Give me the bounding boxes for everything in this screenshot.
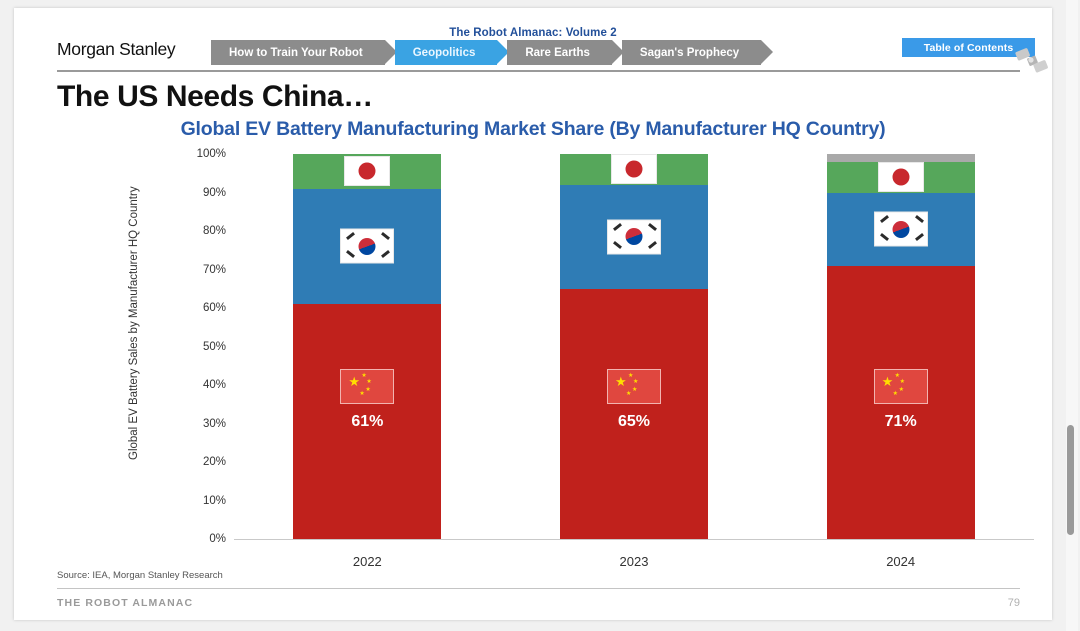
x-axis-line	[234, 539, 1034, 540]
china-star-small: ★	[900, 380, 905, 385]
y-axis-tick: 0%	[209, 533, 226, 545]
bar-segment-china[interactable]: ★★★★★61%	[293, 304, 441, 539]
chapter-nav: How to Train Your Robot Geopolitics Rare…	[211, 40, 771, 65]
y-axis-tick: 70%	[203, 264, 226, 276]
china-flag-icon: ★★★★★	[874, 369, 928, 404]
japan-flag-icon	[878, 162, 924, 192]
korea-trigram	[381, 250, 390, 258]
y-axis-tick: 10%	[203, 495, 226, 507]
japan-flag-icon	[611, 154, 657, 184]
china-star-small: ★	[893, 392, 898, 397]
china-star-large: ★	[348, 377, 360, 387]
volume-title: The Robot Almanac: Volume 2	[14, 27, 1052, 39]
bar-segment-south-korea[interactable]	[560, 185, 708, 289]
bar-value-label: 71%	[885, 413, 917, 431]
bar-segment-china[interactable]: ★★★★★65%	[560, 289, 708, 539]
nav-chevron-label: Geopolitics	[413, 47, 476, 59]
bar-group[interactable]: ★★★★★61%	[293, 154, 441, 539]
china-star-small: ★	[633, 380, 638, 385]
bar-series-container: ★★★★★61%2022★★★★★65%2023★★★★★71%2024	[234, 154, 1034, 539]
korea-trigram	[880, 233, 889, 241]
korea-trigram	[346, 232, 355, 240]
japan-disc	[359, 163, 376, 180]
chart-plot-area: Global EV Battery Sales by Manufacturer …	[14, 146, 1052, 566]
x-axis-tick: 2023	[620, 554, 649, 569]
nav-chevron-how-to-train-your-robot[interactable]: How to Train Your Robot	[211, 40, 385, 65]
browser-viewport: The Robot Almanac: Volume 2 Morgan Stanl…	[0, 0, 1080, 631]
korea-trigram	[346, 250, 355, 258]
page-title: The US Needs China…	[57, 80, 373, 114]
korea-trigram	[915, 215, 924, 223]
korea-taeguk	[892, 221, 909, 238]
x-axis-tick: 2024	[886, 554, 915, 569]
bar-segment-japan[interactable]	[293, 154, 441, 189]
bar-segment-south-korea[interactable]	[827, 193, 975, 266]
korea-trigram	[648, 223, 657, 231]
nav-chevron-label: Sagan's Prophecy	[640, 47, 739, 59]
nav-chevron-rare-earths[interactable]: Rare Earths	[507, 40, 612, 65]
korea-trigram	[648, 241, 657, 249]
china-star-small: ★	[626, 392, 631, 397]
korea-taeguk	[626, 228, 643, 245]
nav-chevron-label: Rare Earths	[525, 47, 590, 59]
china-star-large: ★	[615, 377, 627, 387]
bar-segment-japan[interactable]	[827, 162, 975, 193]
y-axis-tick: 50%	[203, 341, 226, 353]
bar-segment-japan[interactable]	[560, 154, 708, 185]
bar-segment-china[interactable]: ★★★★★71%	[827, 266, 975, 539]
bar-segment-others[interactable]	[827, 154, 975, 162]
footer-brand: THE ROBOT ALMANAC	[57, 597, 193, 609]
page-number: 79	[1008, 597, 1020, 609]
slide-canvas: The Robot Almanac: Volume 2 Morgan Stanl…	[14, 8, 1052, 620]
y-axis-ticks: 0%10%20%30%40%50%60%70%80%90%100%	[174, 154, 226, 539]
korea-trigram	[915, 233, 924, 241]
korea-trigram	[613, 223, 622, 231]
robot-satellite-icon	[1014, 48, 1050, 78]
korea-trigram	[880, 215, 889, 223]
korea-trigram	[613, 241, 622, 249]
south-korea-flag-icon	[874, 212, 928, 247]
footer-divider	[57, 588, 1020, 589]
scrollbar-thumb[interactable]	[1067, 425, 1074, 535]
y-axis-tick: 90%	[203, 187, 226, 199]
china-flag-icon: ★★★★★	[340, 369, 394, 404]
japan-disc	[626, 161, 643, 178]
y-axis-tick: 20%	[203, 456, 226, 468]
korea-trigram	[381, 232, 390, 240]
china-star-small: ★	[632, 388, 637, 393]
china-star-small: ★	[899, 388, 904, 393]
korea-taeguk	[359, 238, 376, 255]
bar-segment-south-korea[interactable]	[293, 189, 441, 305]
header-divider	[57, 70, 1020, 72]
nav-chevron-geopolitics[interactable]: Geopolitics	[395, 40, 498, 65]
china-star-small: ★	[359, 392, 364, 397]
bar-value-label: 61%	[351, 413, 383, 431]
table-of-contents-label: Table of Contents	[924, 42, 1014, 54]
bar-group[interactable]: ★★★★★71%	[827, 154, 975, 539]
south-korea-flag-icon	[607, 219, 661, 254]
china-star-large: ★	[882, 377, 894, 387]
china-flag-icon: ★★★★★	[607, 369, 661, 404]
japan-flag-icon	[344, 156, 390, 186]
source-note: Source: IEA, Morgan Stanley Research	[57, 570, 223, 581]
y-axis-tick: 100%	[197, 148, 226, 160]
china-star-small: ★	[366, 380, 371, 385]
bar-group[interactable]: ★★★★★65%	[560, 154, 708, 539]
japan-disc	[892, 169, 909, 186]
y-axis-tick: 80%	[203, 225, 226, 237]
y-axis-tick: 60%	[203, 302, 226, 314]
x-axis-tick: 2022	[353, 554, 382, 569]
nav-chevron-sagans-prophecy[interactable]: Sagan's Prophecy	[622, 40, 761, 65]
nav-chevron-label: How to Train Your Robot	[229, 47, 363, 59]
chart-title: Global EV Battery Manufacturing Market S…	[14, 118, 1052, 141]
bar-value-label: 65%	[618, 413, 650, 431]
morgan-stanley-logo: Morgan Stanley	[57, 39, 175, 60]
china-star-small: ★	[365, 388, 370, 393]
y-axis-tick: 30%	[203, 418, 226, 430]
y-axis-tick: 40%	[203, 379, 226, 391]
y-axis-label: Global EV Battery Sales by Manufacturer …	[128, 200, 140, 460]
south-korea-flag-icon	[340, 229, 394, 264]
scrollbar-track[interactable]	[1066, 0, 1078, 631]
